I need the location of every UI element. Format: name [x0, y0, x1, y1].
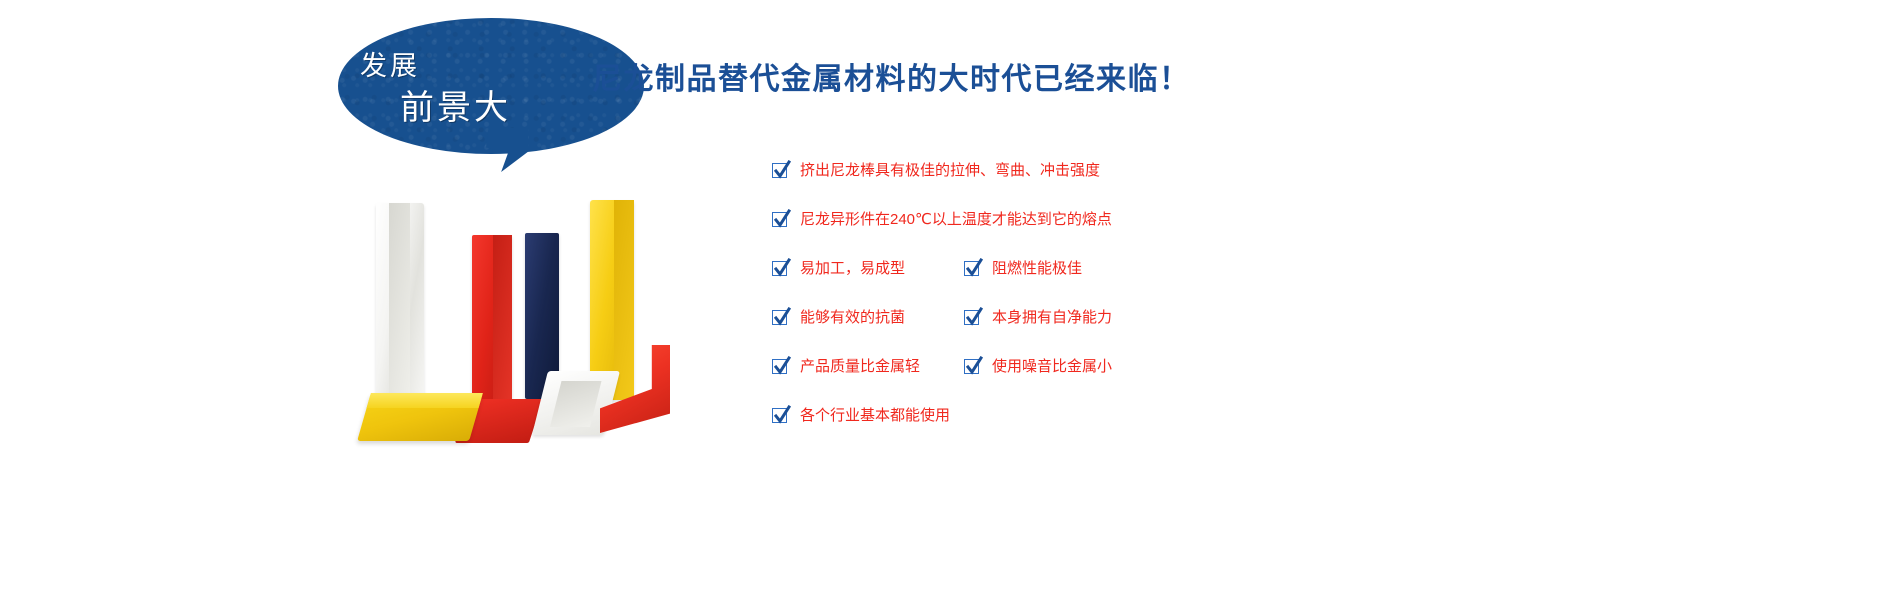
- feature-item: 产品质量比金属轻: [772, 359, 920, 374]
- feature-item: 挤出尼龙棒具有极佳的拉伸、弯曲、冲击强度: [772, 163, 1100, 178]
- feature-item: 能够有效的抗菌: [772, 310, 905, 325]
- bubble-line-1: 发展: [360, 44, 420, 83]
- check-icon: [772, 408, 787, 423]
- product-piece-red-tall-bar: [472, 235, 512, 405]
- feature-label: 尼龙异形件在240℃以上温度才能达到它的熔点: [800, 212, 1112, 227]
- feature-item: 各个行业基本都能使用: [772, 408, 950, 423]
- headline: 尼龙制品替代金属材料的大时代已经来临！: [592, 54, 1191, 98]
- check-icon: [772, 310, 787, 325]
- feature-item: 阻燃性能极佳: [964, 261, 1082, 276]
- feature-label: 各个行业基本都能使用: [800, 408, 950, 423]
- feature-label: 易加工，易成型: [800, 261, 905, 276]
- check-icon: [964, 359, 979, 374]
- feature-list: 挤出尼龙棒具有极佳的拉伸、弯曲、冲击强度 尼龙异形件在240℃以上温度才能达到它…: [772, 155, 1532, 445]
- feature-label: 阻燃性能极佳: [992, 261, 1082, 276]
- feature-item: 使用噪音比金属小: [964, 359, 1112, 374]
- check-icon: [772, 359, 787, 374]
- product-piece-white-u-channel: [376, 203, 424, 408]
- feature-item: 本身拥有自净能力: [964, 310, 1112, 325]
- check-icon: [964, 261, 979, 276]
- feature-label: 能够有效的抗菌: [800, 310, 905, 325]
- product-piece-yellow-tall-bar: [590, 200, 634, 400]
- bubble-line-2: 前景大: [400, 80, 511, 129]
- product-piece-yellow-base: [357, 393, 483, 441]
- check-icon: [772, 212, 787, 227]
- feature-label: 使用噪音比金属小: [992, 359, 1112, 374]
- feature-label: 挤出尼龙棒具有极佳的拉伸、弯曲、冲击强度: [800, 163, 1100, 178]
- product-photo: [350, 185, 710, 455]
- feature-item: 尼龙异形件在240℃以上温度才能达到它的熔点: [772, 212, 1112, 227]
- check-icon: [772, 261, 787, 276]
- feature-item: 易加工，易成型: [772, 261, 905, 276]
- check-icon: [772, 163, 787, 178]
- feature-label: 本身拥有自净能力: [992, 310, 1112, 325]
- check-icon: [964, 310, 979, 325]
- promo-banner: 发展 前景大 尼龙制品替代金属材料的大时代已经来临！ 挤出尼龙棒具有极佳的拉伸、…: [0, 0, 1902, 592]
- feature-label: 产品质量比金属轻: [800, 359, 920, 374]
